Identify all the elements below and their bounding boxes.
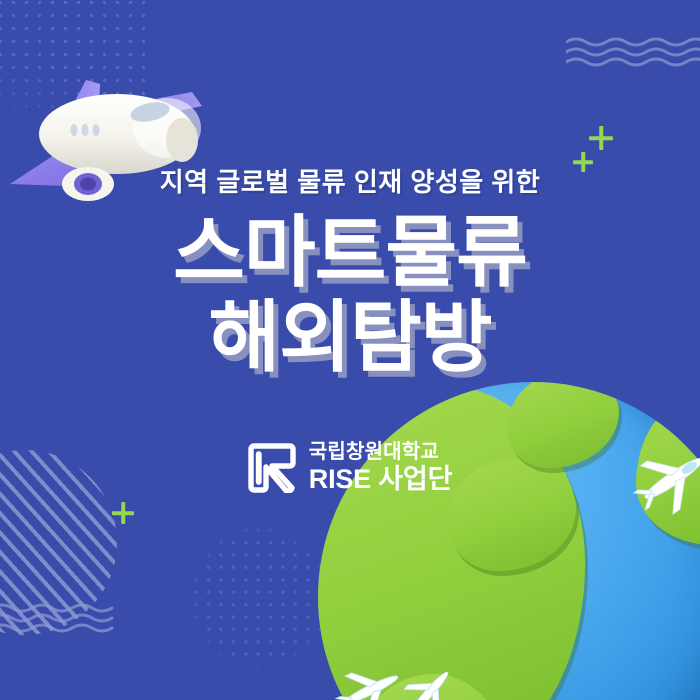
wave-lines-top-right	[566, 36, 700, 68]
sparkle-plus-right-upper	[589, 126, 613, 150]
wave-lines-bottom-left	[0, 602, 124, 634]
headline-line-1: 스마트물류	[173, 208, 527, 296]
sparkle-plus-left-lower	[112, 502, 134, 524]
dot-grid-top-left	[0, 0, 154, 161]
poster-subtitle: 지역 글로벌 물류 인재 양성을 위한	[0, 168, 700, 197]
rise-logo-lockup: 국립창원대학교 RISE 사업단	[0, 442, 700, 493]
logo-text-block: 국립창원대학교 RISE 사업단	[309, 442, 452, 493]
rise-bracket-r-logomark-icon	[248, 443, 296, 493]
logo-university-name: 국립창원대학교	[309, 442, 452, 462]
promo-poster: 지역 글로벌 물류 인재 양성을 위한 스마트물류 해외탐방 국립창원대학교 R…	[0, 0, 700, 700]
poster-headline: 스마트물류 해외탐방	[0, 209, 700, 382]
logo-program-name: RISE 사업단	[309, 466, 452, 493]
headline-line-2: 해외탐방	[0, 294, 700, 381]
globe-graphic	[318, 382, 700, 700]
dot-grid-bottom-center	[190, 524, 330, 670]
earth-globe-sphere	[318, 382, 700, 700]
headline-block: 지역 글로벌 물류 인재 양성을 위한 스마트물류 해외탐방	[0, 168, 700, 381]
globe-landmass	[318, 386, 585, 700]
